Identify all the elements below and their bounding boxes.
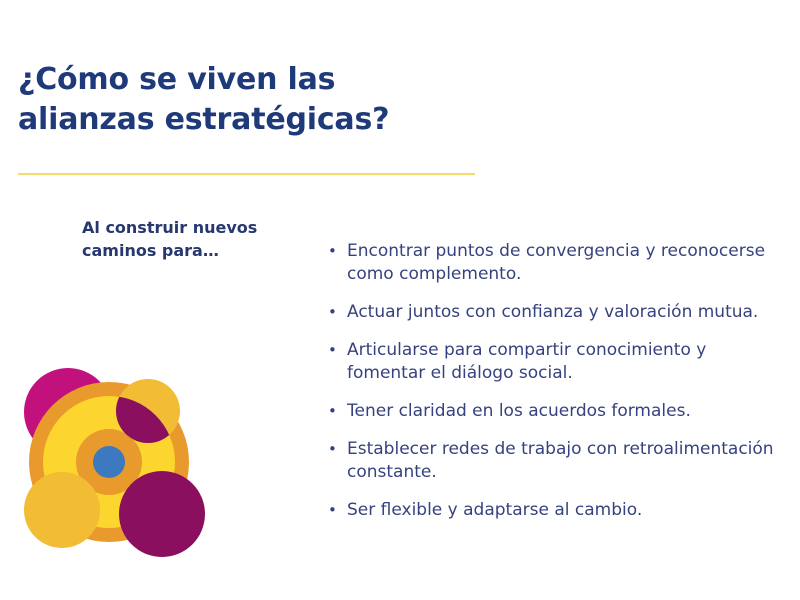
bullet-marker-icon: • (324, 400, 347, 423)
list-item: • Ser flexible y adaptarse al cambio. (324, 499, 800, 522)
bullet-marker-icon: • (324, 499, 347, 522)
satellite-bottom-right-purple-icon (119, 471, 205, 557)
bullet-marker-icon: • (324, 339, 347, 362)
list-item-text: Establecer redes de trabajo con retroali… (347, 438, 800, 484)
list-item-text: Articularse para compartir conocimiento … (347, 339, 800, 385)
list-item: • Actuar juntos con confianza y valoraci… (324, 301, 800, 324)
slide-canvas: ¿Cómo se viven las alianzas estratégicas… (0, 0, 800, 600)
list-item-text: Ser flexible y adaptarse al cambio. (347, 499, 800, 522)
section-subtitle: Al construir nuevos caminos para… (82, 216, 332, 262)
list-item: • Establecer redes de trabajo con retroa… (324, 438, 800, 484)
bullet-list: • Encontrar puntos de convergencia y rec… (324, 240, 800, 522)
list-item: • Tener claridad en los acuerdos formale… (324, 400, 800, 423)
bullet-marker-icon: • (324, 240, 347, 263)
center-blue-dot-icon (93, 446, 125, 478)
bullet-marker-icon: • (324, 438, 347, 461)
list-item-text: Encontrar puntos de convergencia y recon… (347, 240, 800, 286)
list-item: • Articularse para compartir conocimient… (324, 339, 800, 385)
list-item-text: Tener claridad en los acuerdos formales. (347, 400, 800, 423)
list-item: • Encontrar puntos de convergencia y rec… (324, 240, 800, 286)
satellite-bottom-left-amber-icon (24, 472, 100, 548)
page-title: ¿Cómo se viven las alianzas estratégicas… (18, 60, 638, 140)
bullet-marker-icon: • (324, 301, 347, 324)
concentric-circles-decoration (14, 362, 224, 567)
title-divider (18, 173, 475, 175)
list-item-text: Actuar juntos con confianza y valoración… (347, 301, 800, 324)
